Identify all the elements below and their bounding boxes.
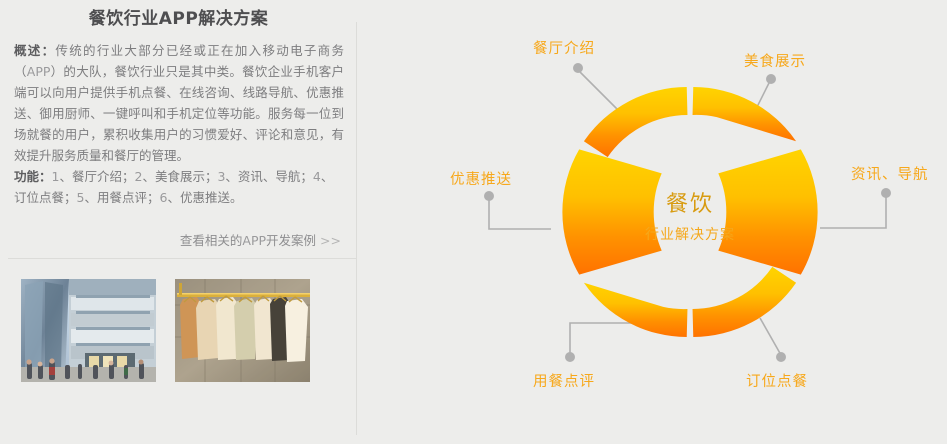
donut-label-dining-review[interactable]: 用餐点评 xyxy=(533,370,595,391)
donut-label-food-display[interactable]: 美食展示 xyxy=(744,50,806,71)
solution-donut-diagram xyxy=(420,0,947,444)
donut-label-promo-push[interactable]: 优惠推送 xyxy=(450,168,512,189)
donut-center-subtitle: 行业解决方案 xyxy=(615,224,765,244)
donut-center-title: 餐饮 xyxy=(615,186,765,218)
shopping-mall-photo[interactable] xyxy=(21,279,156,382)
clothing-rack-photo[interactable] xyxy=(175,279,310,382)
shopping-mall-photo-image xyxy=(21,279,156,382)
features-paragraph: 功能：1、餐厅介绍；2、美食展示；3、资讯、导航；4、订位点餐；5、用餐点评；6… xyxy=(14,166,344,208)
features-text: 1、餐厅介绍；2、美食展示；3、资讯、导航；4、订位点餐；5、用餐点评；6、优惠… xyxy=(14,169,333,205)
horizontal-divider xyxy=(8,258,357,259)
features-label: 功能： xyxy=(14,169,52,184)
chevron-right-double-icon: >> xyxy=(320,233,341,248)
view-cases-label: 查看相关的APP开发案例 xyxy=(180,233,316,248)
overview-label: 概述： xyxy=(14,43,55,58)
view-cases-link[interactable]: 查看相关的APP开发案例 >> xyxy=(0,230,341,249)
clothing-rack-photo-image xyxy=(175,279,310,382)
overview-text: 传统的行业大部分已经或正在加入移动电子商务（APP）的大队，餐饮行业只是其中类。… xyxy=(14,43,344,163)
donut-label-restaurant-intro[interactable]: 餐厅介绍 xyxy=(533,37,595,58)
donut-label-news-navigation[interactable]: 资讯、导航 xyxy=(851,163,929,184)
page-title: 餐饮行业APP解决方案 xyxy=(0,4,357,29)
overview-paragraph: 概述：传统的行业大部分已经或正在加入移动电子商务（APP）的大队，餐饮行业只是其… xyxy=(14,40,344,166)
vertical-divider xyxy=(356,22,357,435)
donut-label-booking-order[interactable]: 订位点餐 xyxy=(746,370,808,391)
solution-info-panel: 餐饮行业APP解决方案 概述：传统的行业大部分已经或正在加入移动电子商务（APP… xyxy=(0,0,357,444)
